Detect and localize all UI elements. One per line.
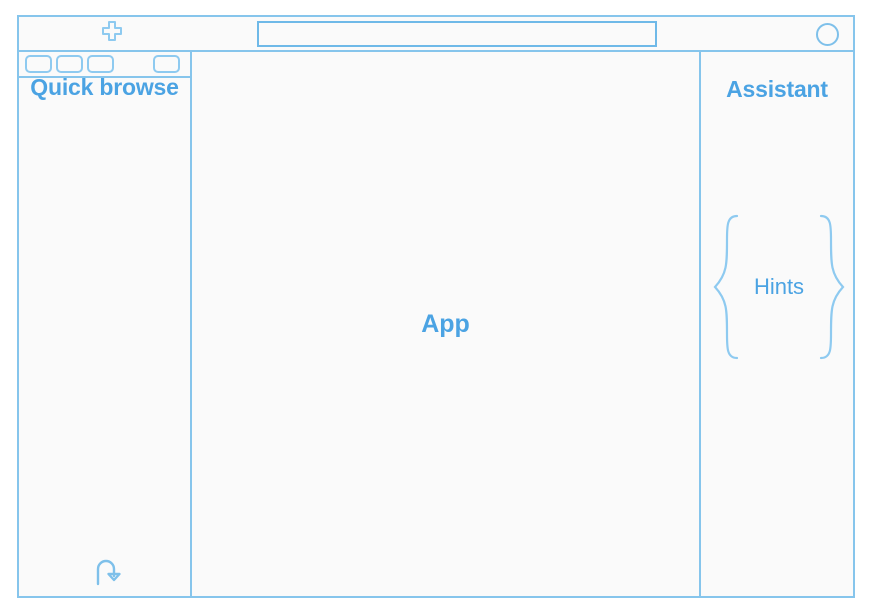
quick-browse-title: Quick browse <box>19 72 190 103</box>
assistant-title: Assistant <box>701 76 853 103</box>
sidebar-footer <box>19 550 190 590</box>
sidebar-tab-2[interactable] <box>56 55 83 73</box>
sidebar-tab-4[interactable] <box>153 55 180 73</box>
app-label: App <box>421 310 470 339</box>
top-bar <box>19 17 853 52</box>
hints-label: Hints <box>754 274 804 300</box>
hints-block: Hints <box>709 212 849 362</box>
sidebar-tab-3[interactable] <box>87 55 114 73</box>
undo-u-turn-icon[interactable] <box>91 556 125 588</box>
circle-avatar-icon[interactable] <box>816 23 839 46</box>
sidebar: Quick browse <box>19 52 192 596</box>
new-tab-button[interactable] <box>97 21 127 48</box>
plus-icon <box>99 20 125 49</box>
window-body: Quick browse App Assistant <box>19 52 853 596</box>
assistant-panel: Assistant Hints <box>701 52 853 596</box>
app-canvas[interactable]: App <box>192 52 701 596</box>
search-input[interactable] <box>257 21 657 47</box>
wireframe-window: Quick browse App Assistant <box>17 15 855 598</box>
sidebar-tab-1[interactable] <box>25 55 52 73</box>
